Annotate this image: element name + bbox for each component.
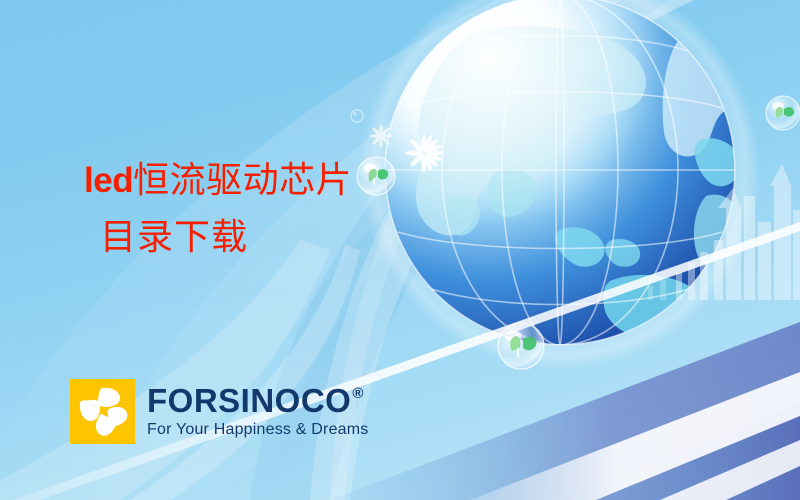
ribbon-band-thick xyxy=(470,372,800,500)
headline-line-2: 目录下载 xyxy=(100,217,504,258)
daisy-flower-icon xyxy=(369,124,393,148)
bubble-sphere-icon xyxy=(766,96,800,130)
headline-line-1: led恒流驱动芯片 xyxy=(84,160,504,201)
headline-text: led恒流驱动芯片 目录下载 xyxy=(84,160,504,259)
brand-name: FORSINOCO® xyxy=(147,384,369,417)
ribbon-curve-left xyxy=(0,240,330,500)
headline-cjk-part: 恒流驱动芯片 xyxy=(133,160,352,200)
violet-wedge-2 xyxy=(560,404,800,500)
bubble-sphere-icon xyxy=(498,323,544,369)
bubble-sphere-icon xyxy=(351,110,363,122)
brand-tagline: For Your Happiness & Dreams xyxy=(147,421,369,439)
brand-lockup-text: FORSINOCO® For Your Happiness & Dreams xyxy=(147,379,369,444)
brand-logo[interactable]: FORSINOCO® For Your Happiness & Dreams xyxy=(70,379,369,444)
pinwheel-flower-icon xyxy=(70,379,135,444)
violet-wedge xyxy=(330,322,800,500)
headline-latin-word: led xyxy=(84,161,133,200)
ribbon-curve-left-2 xyxy=(130,245,360,500)
ribbon-band-small xyxy=(660,440,800,500)
brand-name-word: FORSINOCO xyxy=(147,384,351,417)
registered-trademark-icon: ® xyxy=(352,386,364,401)
banner-canvas: led恒流驱动芯片 目录下载 FORSINOCO® For Your Happi… xyxy=(0,0,800,500)
ribbon-pinstripe xyxy=(12,222,800,500)
